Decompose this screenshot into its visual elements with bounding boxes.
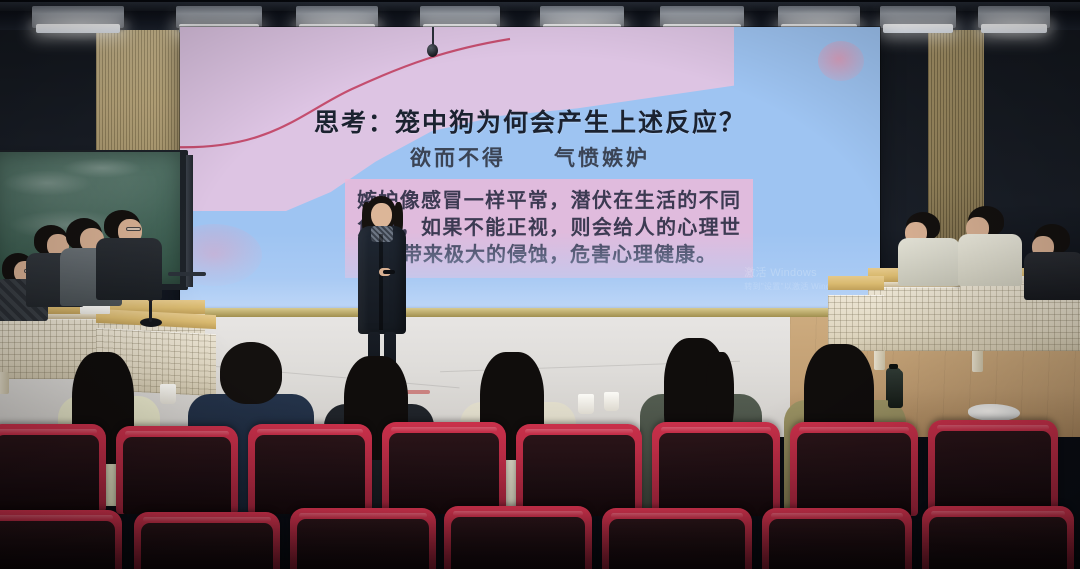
seat-cushion <box>769 519 905 569</box>
classroom-photo-scene: 思考：笼中狗为何会产生上述反应？ 欲而不得 气愤嫉妒 嫉妒像感冒一样平常，潜伏在… <box>0 0 1080 569</box>
ceiling-light-fixture <box>778 6 860 28</box>
presentation-clicker <box>383 270 395 274</box>
seat-highlight <box>453 511 583 516</box>
seat-highlight <box>0 429 97 434</box>
seat-cushion <box>935 431 1051 516</box>
seat-highlight <box>611 513 743 518</box>
left-student-4 <box>96 210 158 308</box>
auditorium-seat[interactable] <box>928 420 1058 516</box>
ceiling-light-fixture <box>880 6 956 28</box>
ceiling-light-fixture <box>540 6 624 28</box>
auditorium-seat[interactable] <box>248 424 372 514</box>
seat-cushion <box>0 435 99 512</box>
auditorium-seat[interactable] <box>652 422 780 516</box>
ceiling-light-fixture <box>978 6 1050 28</box>
right-student-1 <box>900 212 960 290</box>
watermark-line-1: 激活 Windows <box>744 267 817 279</box>
desk-modesty-panel <box>828 295 884 351</box>
coat-lapel <box>379 234 383 330</box>
lectern <box>960 283 1034 351</box>
slide-title: 思考：笼中狗为何会产生上述反应？ <box>180 103 880 139</box>
auditorium-seat-front[interactable] <box>444 506 592 569</box>
right-student-2 <box>960 206 1022 290</box>
chalk-smudge <box>62 158 142 178</box>
projector-cable <box>432 27 434 45</box>
projector-sensor <box>427 44 438 57</box>
auditorium-seat[interactable] <box>0 424 106 512</box>
seat-highlight <box>143 517 271 522</box>
desk-wood-top <box>828 276 884 290</box>
screen-bottom-frame <box>176 308 884 317</box>
auditorium-seat-front[interactable] <box>762 508 912 569</box>
seat-highlight <box>937 425 1049 430</box>
seat-highlight <box>799 427 909 432</box>
desk-leg <box>0 372 9 394</box>
seat-cushion <box>659 433 773 516</box>
auditorium-seat-front[interactable] <box>134 512 280 569</box>
right-student-3 <box>1026 224 1080 302</box>
paper-cup <box>604 392 619 411</box>
seat-cushion <box>123 437 231 514</box>
tissue-on-floor <box>968 404 1020 421</box>
seat-cushion <box>297 519 429 569</box>
seat-cushion <box>797 433 911 516</box>
projection-screen-slide: 思考：笼中狗为何会产生上述反应？ 欲而不得 气愤嫉妒 嫉妒像感冒一样平常，潜伏在… <box>180 27 880 310</box>
seat-highlight <box>931 511 1065 516</box>
auditorium-seat[interactable] <box>790 422 918 516</box>
slide-decor-pink-circle <box>818 41 864 81</box>
auditorium-seat-front[interactable] <box>602 508 752 569</box>
seat-highlight <box>661 427 771 432</box>
chalkboard-arm <box>168 272 206 276</box>
ceiling-light-fixture <box>32 6 124 28</box>
seat-highlight <box>391 427 497 432</box>
seat-cushion <box>609 519 745 569</box>
seat-highlight <box>125 431 229 436</box>
auditorium-seat-front[interactable] <box>290 508 436 569</box>
torso <box>898 238 960 286</box>
seat-highlight <box>257 429 363 434</box>
seat-cushion <box>451 517 585 569</box>
auditorium-seat[interactable] <box>116 426 238 514</box>
face <box>371 203 392 228</box>
auditorium-seat-front[interactable] <box>922 506 1074 569</box>
paper-cup <box>578 394 594 414</box>
seat-highlight <box>771 513 903 518</box>
auditorium-seat-front[interactable] <box>0 510 122 569</box>
ceiling-light-fixture <box>296 6 378 28</box>
seat-cushion <box>523 435 635 516</box>
torso <box>96 238 162 300</box>
seat-cushion <box>141 523 273 569</box>
ceiling-light-fixture <box>660 6 744 28</box>
torso <box>958 234 1022 286</box>
head <box>220 342 282 404</box>
ceiling-light-fixture <box>420 6 500 28</box>
seat-cushion <box>389 433 499 514</box>
auditorium-seat[interactable] <box>516 424 642 516</box>
slide-subtitle: 欲而不得 气愤嫉妒 <box>180 142 880 172</box>
paper-cup <box>160 384 176 404</box>
glasses <box>126 227 141 231</box>
chalkboard-post <box>186 155 193 287</box>
seat-highlight <box>0 515 113 520</box>
auditorium-seat[interactable] <box>382 422 506 514</box>
seat-cushion <box>255 435 365 514</box>
seat-highlight <box>525 429 633 434</box>
seat-cushion <box>929 517 1067 569</box>
ceiling-light-fixture <box>176 6 262 28</box>
water-bottle-front <box>888 370 903 408</box>
torso <box>1024 252 1080 300</box>
seat-cushion <box>0 521 115 569</box>
seat-highlight <box>299 513 427 518</box>
